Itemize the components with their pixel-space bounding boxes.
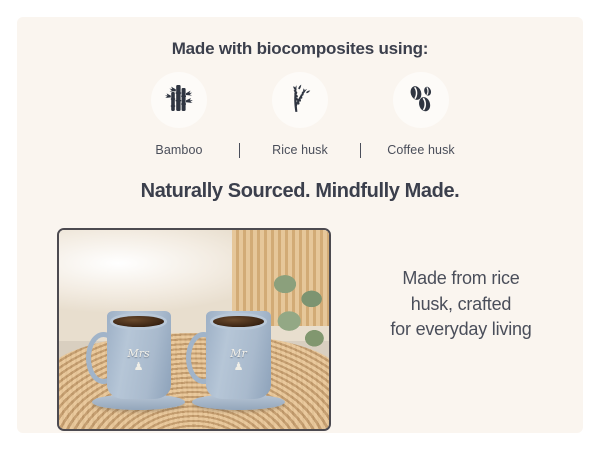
- side-copy-line: husk, crafted: [347, 292, 575, 318]
- mug-figure-bride: ♟: [107, 362, 171, 373]
- mug-figure-groom: ♟: [206, 362, 270, 373]
- bamboo-icon: [162, 81, 196, 120]
- side-copy-line: for everyday living: [347, 317, 575, 343]
- material-item-rice-husk: Rice husk: [240, 72, 360, 157]
- material-badge-coffee-husk: [393, 72, 449, 128]
- material-label-coffee-husk: Coffee husk: [387, 143, 455, 157]
- product-photo: Mrs ♟ Mr ♟: [57, 228, 331, 431]
- mug-mrs: Mrs ♟: [102, 308, 175, 404]
- lower-section: Mrs ♟ Mr ♟ Made from rice husk, crafte: [17, 211, 583, 433]
- material-badge-rice-husk: [272, 72, 328, 128]
- material-item-coffee-husk: Coffee husk: [361, 72, 481, 157]
- material-label-bamboo: Bamboo: [155, 143, 202, 157]
- mug-body: Mrs ♟: [107, 311, 171, 399]
- material-item-bamboo: Bamboo: [119, 72, 239, 157]
- side-copy-line: Made from rice: [347, 266, 575, 292]
- coffee-beans-icon: [405, 82, 437, 119]
- page-title: Made with biocomposites using:: [17, 39, 583, 59]
- promo-card: Made with biocomposites using:: [17, 17, 583, 433]
- photo-scene: Mrs ♟ Mr ♟: [59, 230, 329, 429]
- rice-stalk-icon: [283, 81, 317, 120]
- mug-body: Mr ♟: [206, 311, 270, 399]
- mug-coffee-surface: [213, 316, 264, 327]
- mug-coffee-surface: [113, 316, 164, 327]
- side-copy: Made from rice husk, crafted for everyda…: [347, 266, 575, 343]
- mug-script-mr: Mr: [206, 347, 270, 360]
- materials-row: Bamboo: [17, 72, 583, 158]
- material-label-rice-husk: Rice husk: [272, 143, 328, 157]
- mug-script-mrs: Mrs: [107, 347, 171, 360]
- tagline: Naturally Sourced. Mindfully Made.: [17, 180, 583, 203]
- mug-mr: Mr ♟: [202, 308, 275, 404]
- material-badge-bamboo: [151, 72, 207, 128]
